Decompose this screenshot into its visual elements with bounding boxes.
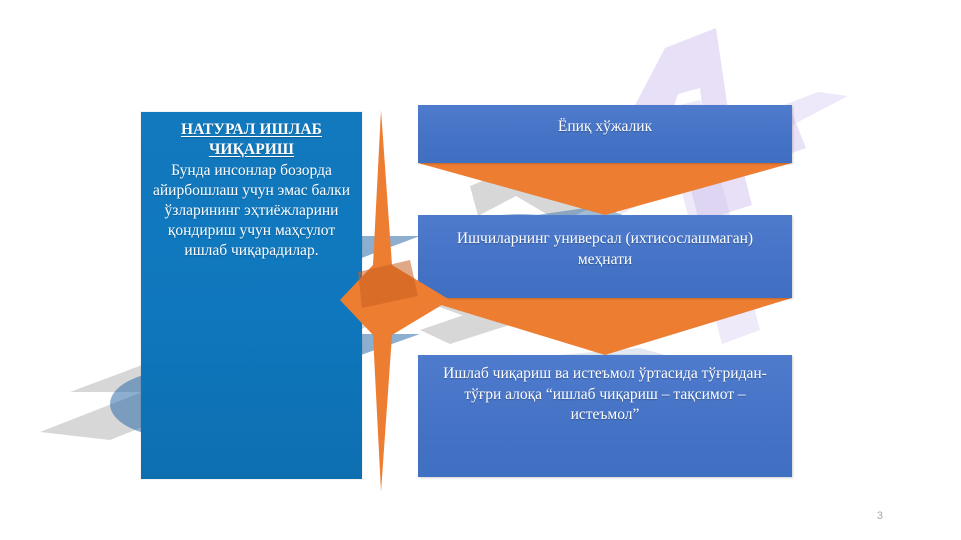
flow-box-1-text: Ёпиқ хўжалик (418, 105, 792, 138)
flow-box-3-text: Ишлаб чиқариш ва истеъмол ўртасида тўғри… (418, 355, 792, 426)
presentation-slide: НАТУРАЛ ИШЛАБ ЧИҚАРИШ Бунда инсонлар боз… (0, 0, 961, 540)
flow-box-2-text: Ишчиларнинг универсал (ихтисослашмаган) … (418, 215, 792, 270)
slide-page-number: 3 (877, 510, 883, 522)
natural-production-panel: НАТУРАЛ ИШЛАБ ЧИҚАРИШ Бунда инсонлар боз… (141, 112, 362, 479)
panel-title: НАТУРАЛ ИШЛАБ ЧИҚАРИШ (149, 120, 354, 160)
flow-box-2: Ишчиларнинг универсал (ихтисослашмаган) … (418, 215, 792, 298)
flow-box-1: Ёпиқ хўжалик (418, 105, 792, 163)
panel-body-text: Бунда инсонлар бозорда айирбошлаш учун э… (149, 161, 354, 262)
panel-content: НАТУРАЛ ИШЛАБ ЧИҚАРИШ Бунда инсонлар боз… (141, 112, 362, 261)
flow-connector-arrow-2 (418, 298, 792, 355)
flow-connector-arrow-1 (418, 163, 792, 215)
flow-box-3: Ишлаб чиқариш ва истеъмол ўртасида тўғри… (418, 355, 792, 477)
orange-star-accent-icon (340, 100, 450, 500)
